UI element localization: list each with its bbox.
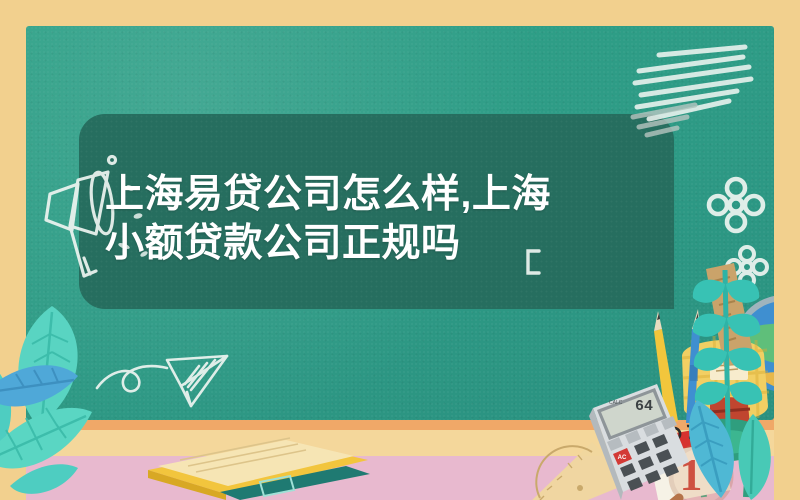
calculator-ac-key: AC <box>618 455 627 461</box>
stacked-books-left <box>140 408 370 500</box>
calculator-brand: CALC <box>609 400 623 406</box>
plant-leaves-right <box>675 268 800 500</box>
chalk-eraser-smudge <box>625 35 765 150</box>
article-banner: 1 64 CALC AC <box>0 0 800 500</box>
calculator-display-value: 64 <box>635 398 653 415</box>
flower-chalk-doodle <box>705 175 767 237</box>
plant-leaves-left <box>0 300 162 500</box>
page-title: 上海易贷公司怎么样,上海 小额贷款公司正规吗 <box>105 170 665 268</box>
